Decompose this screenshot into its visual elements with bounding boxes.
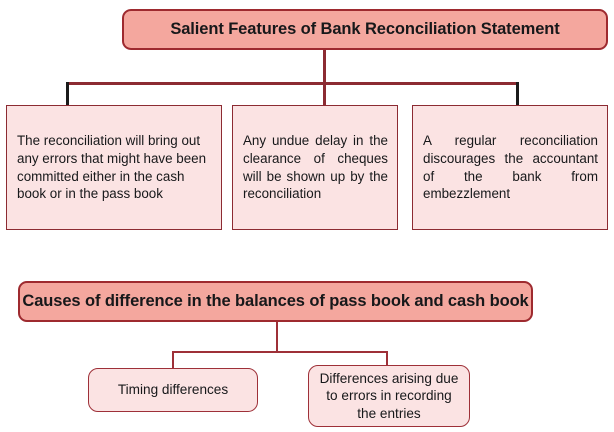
connector-drop-section-1-child-3 bbox=[516, 82, 519, 106]
connector-drop-section-1-child-1 bbox=[66, 82, 69, 106]
section-1-child-label-3: A regular reconciliation discourages the… bbox=[423, 132, 598, 203]
section-2-child-box-2: Differences arising due to errors in rec… bbox=[308, 365, 470, 427]
section-2-child-box-1: Timing differences bbox=[88, 368, 258, 412]
section-2-child-label-1: Timing differences bbox=[97, 381, 249, 398]
section-1-child-box-1: The reconciliation will bring out any er… bbox=[6, 105, 222, 230]
connector-drop-section-1-child-2 bbox=[323, 82, 326, 106]
section-header-salient-features: Salient Features of Bank Reconciliation … bbox=[122, 9, 608, 50]
connector-stem-section-2 bbox=[276, 322, 278, 353]
section-2-child-label-2: Differences arising due to errors in rec… bbox=[317, 370, 461, 422]
section-1-child-label-2: Any undue delay in the clearance of cheq… bbox=[243, 132, 388, 203]
section-header-causes-of-difference: Causes of difference in the balances of … bbox=[18, 281, 533, 322]
section-header-label: Salient Features of Bank Reconciliation … bbox=[124, 20, 606, 38]
diagram-canvas: Salient Features of Bank Reconciliation … bbox=[0, 0, 614, 432]
section-1-child-label-1: The reconciliation will bring out any er… bbox=[17, 132, 212, 203]
connector-bar-section-1 bbox=[66, 82, 519, 85]
section-1-child-box-2: Any undue delay in the clearance of cheq… bbox=[232, 105, 398, 230]
connector-bar-section-2 bbox=[172, 351, 388, 353]
section-1-child-box-3: A regular reconciliation discourages the… bbox=[412, 105, 608, 230]
connector-stem-section-1 bbox=[323, 50, 326, 84]
section-header-label-2: Causes of difference in the balances of … bbox=[20, 292, 531, 310]
